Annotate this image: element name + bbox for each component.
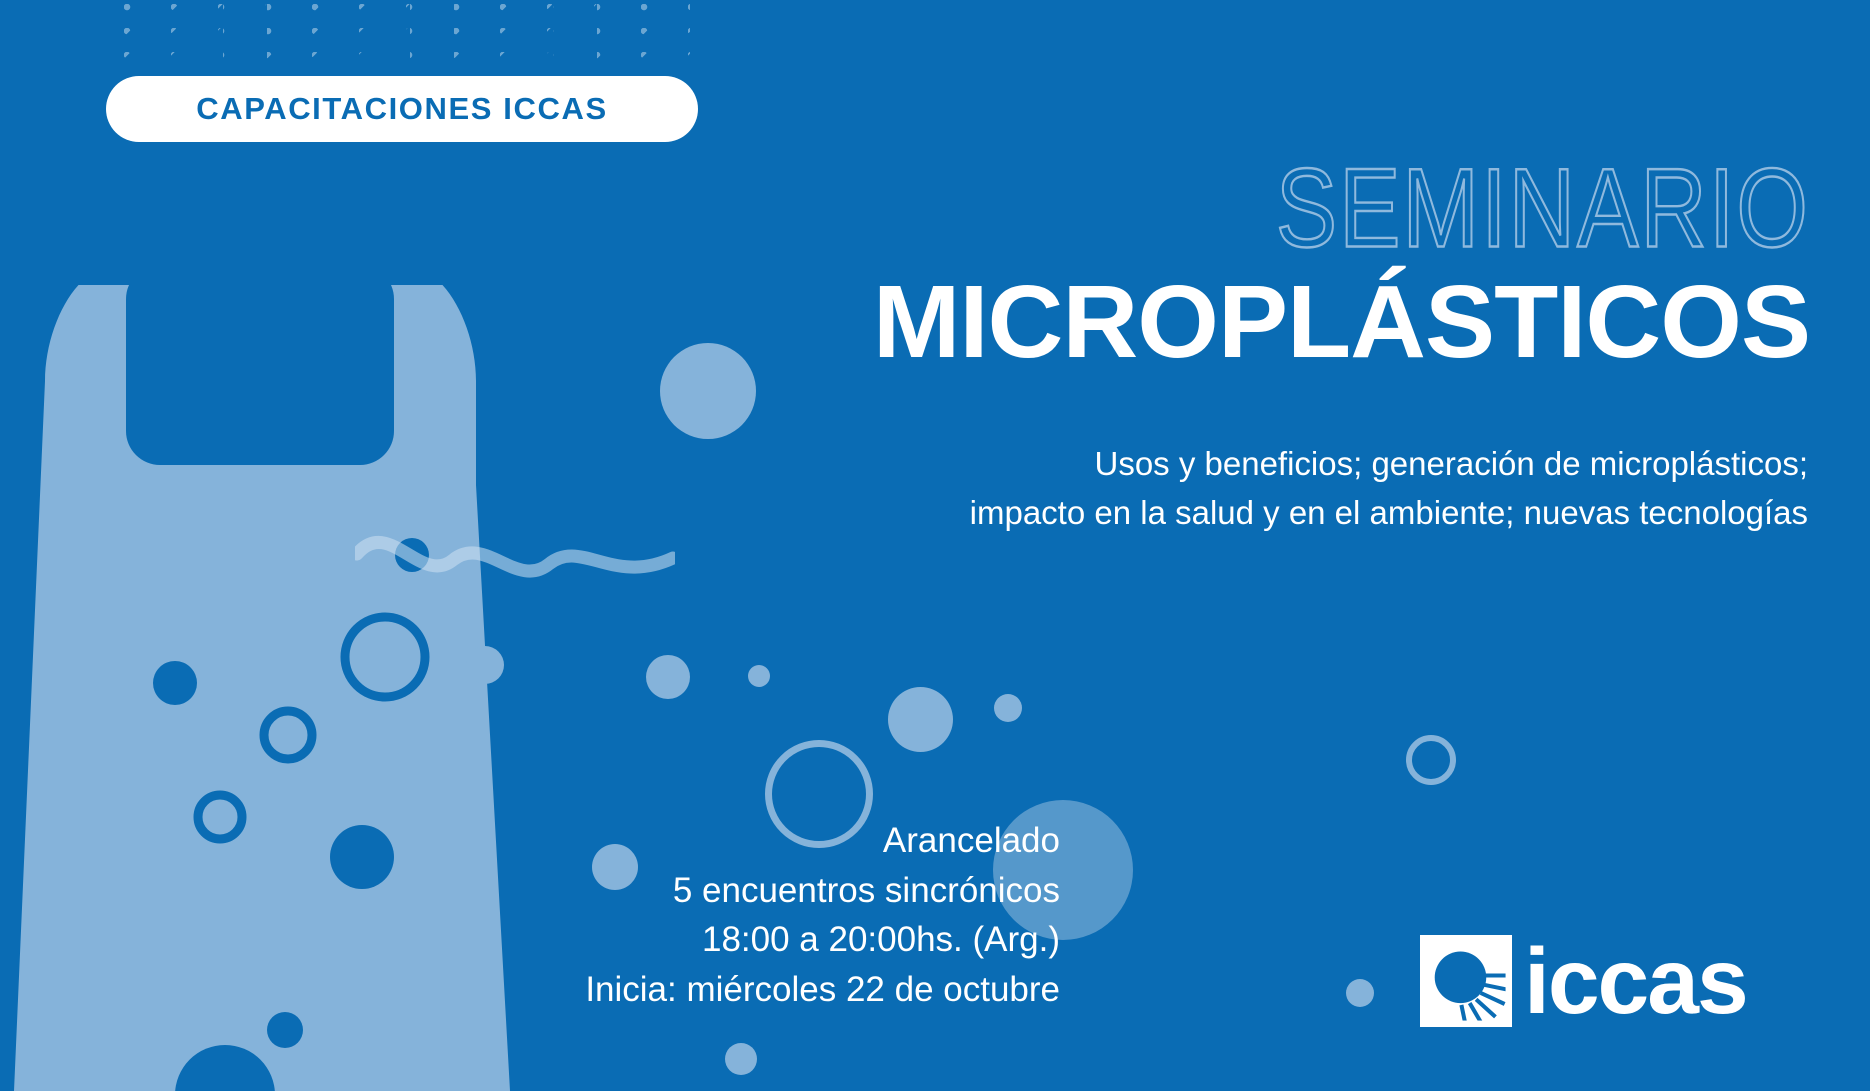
- page-title: MICROPLÁSTICOS: [668, 273, 1810, 371]
- bubble-decor: [466, 646, 504, 684]
- event-detail-time: 18:00 a 20:00hs. (Arg.): [585, 915, 1060, 965]
- heading-group: SEMINARIO MICROPLÁSTICOS: [690, 180, 1810, 371]
- dot-grid-pattern: [124, 4, 690, 60]
- bubble-decor: [748, 665, 770, 687]
- iccas-logo: iccas: [1420, 935, 1747, 1027]
- capacitaciones-badge: CAPACITACIONES ICCAS: [106, 76, 698, 142]
- bubble-decor: [725, 1043, 757, 1075]
- iccas-sun-mark-icon: [1420, 935, 1512, 1027]
- bubble-ring-decor: [1406, 735, 1456, 785]
- event-detail-sessions: 5 encuentros sincrónicos: [585, 866, 1060, 916]
- bubble-decor: [994, 694, 1022, 722]
- wave-line: [355, 520, 675, 600]
- badge-label: CAPACITACIONES ICCAS: [196, 91, 607, 127]
- plastic-bag-illustration: [0, 285, 520, 1091]
- bubble-decor: [1346, 979, 1374, 1007]
- subtitle-line-2: impacto en la salud y en el ambiente; nu…: [848, 489, 1808, 538]
- iccas-wordmark: iccas: [1524, 945, 1747, 1018]
- bubble-decor: [646, 655, 690, 699]
- event-detail-price: Arancelado: [585, 816, 1060, 866]
- subtitle-line-1: Usos y beneficios; generación de micropl…: [848, 440, 1808, 489]
- page-subtitle: Usos y beneficios; generación de micropl…: [848, 440, 1808, 537]
- poster-canvas: CAPACITACIONES ICCAS: [0, 0, 1870, 1091]
- bubble-decor: [888, 687, 953, 752]
- event-details: Arancelado 5 encuentros sincrónicos 18:0…: [585, 816, 1060, 1015]
- event-detail-start-date: Inicia: miércoles 22 de octubre: [585, 965, 1060, 1015]
- page-eyebrow: SEMINARIO: [690, 163, 1810, 255]
